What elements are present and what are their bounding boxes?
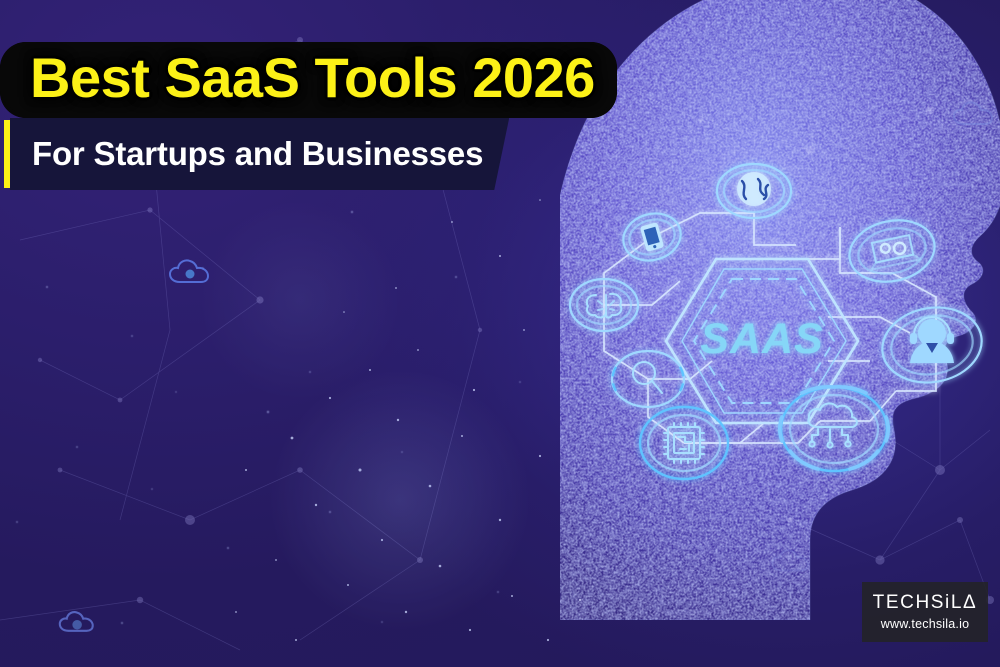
logo-url: www.techsila.io (881, 617, 969, 631)
subtitle-box: For Startups and Businesses (10, 118, 509, 190)
logo-wordmark: TECHSiLΔ (873, 593, 978, 612)
page-subtitle: For Startups and Businesses (32, 135, 483, 173)
mobile-app-icon (618, 207, 686, 267)
page-title: Best SaaS Tools 2026 (30, 48, 595, 108)
globe-icon (717, 164, 791, 218)
saas-center-label: SAAS (700, 315, 823, 363)
title-sticker: Best SaaS Tools 2026 (0, 42, 617, 118)
cloud-icon-left-mid (168, 258, 214, 288)
subtitle-accent-bar (4, 120, 11, 188)
banner-canvas: .ln { stroke:#D8E8FF; stroke-width:1.7; … (0, 0, 1000, 667)
cloud-network-icon (780, 387, 888, 471)
laptop-gear-icon (844, 213, 941, 290)
saas-network-diagram: .ln { stroke:#D8E8FF; stroke-width:1.7; … (540, 155, 1000, 495)
headline-block: Best SaaS Tools 2026 (0, 42, 617, 118)
support-agent-icon (876, 300, 987, 390)
cloud-icon-bottom-left (58, 610, 98, 636)
brand-logo[interactable]: TECHSiLΔ www.techsila.io (862, 582, 988, 642)
